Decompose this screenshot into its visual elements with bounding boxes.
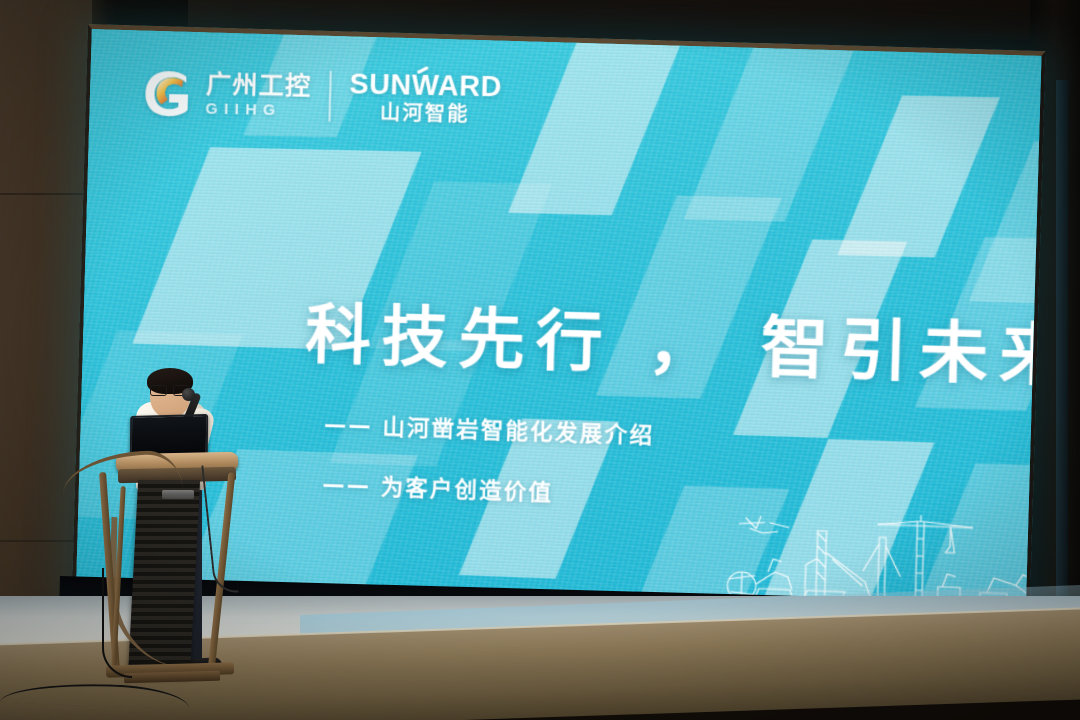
wall-right-edge — [1056, 80, 1068, 640]
giihg-name-cn: 广州工控 — [206, 71, 312, 98]
logo-divider — [328, 71, 332, 121]
giihg-name-en: GIIHG — [205, 101, 311, 119]
sunward-name-en-text: SUNWARD — [349, 68, 502, 102]
podium-foot-base — [124, 671, 220, 684]
giihg-logo: 广州工控 GIIHG — [139, 66, 312, 122]
podium-nameplate — [162, 490, 194, 499]
giihg-wordmark: 广州工控 GIIHG — [205, 71, 311, 118]
podium-cable — [102, 568, 132, 678]
presentation-photo-scene: 广州工控 GIIHG SUNWARD 山河智能 — [0, 0, 1080, 720]
decor-parallelogram — [837, 95, 1000, 257]
microphone-head-icon — [182, 388, 195, 401]
slide-logo-bar: 广州工控 GIIHG SUNWARD 山河智能 — [139, 66, 502, 125]
sunward-name-en: SUNWARD — [349, 70, 502, 101]
decor-parallelogram — [684, 29, 875, 221]
presenter-and-podium — [100, 368, 250, 698]
giihg-g-mark-icon — [139, 66, 197, 119]
sunward-name-cn: 山河智能 — [380, 103, 470, 125]
sunward-logo: SUNWARD 山河智能 — [348, 70, 502, 126]
